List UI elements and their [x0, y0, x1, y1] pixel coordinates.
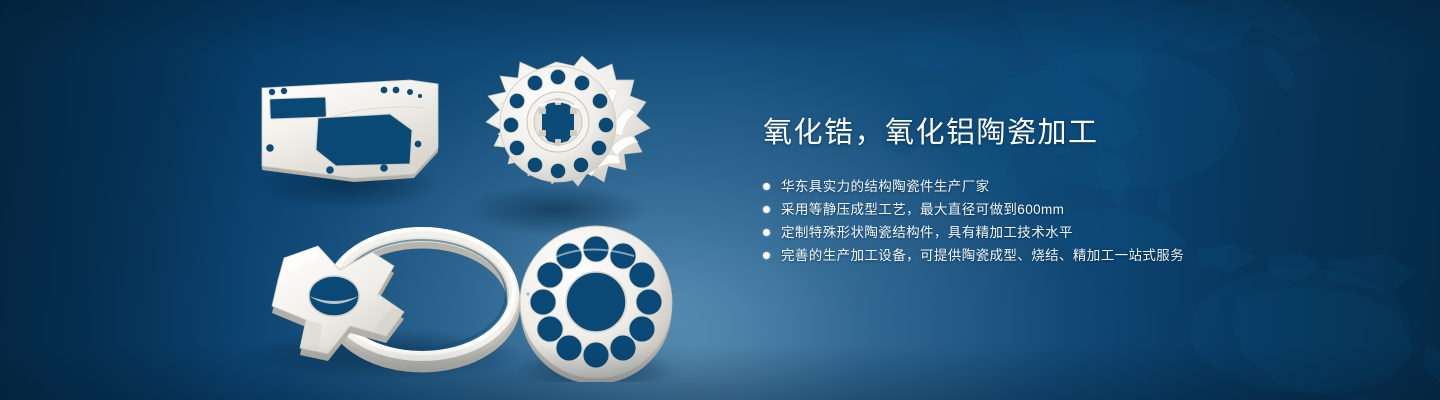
product-banner: 氧化锆，氧化铝陶瓷加工 华东具实力的结构陶瓷件生产厂家 采用等静压成型工艺，最大… — [0, 0, 1440, 400]
banner-vignette — [0, 0, 1440, 400]
